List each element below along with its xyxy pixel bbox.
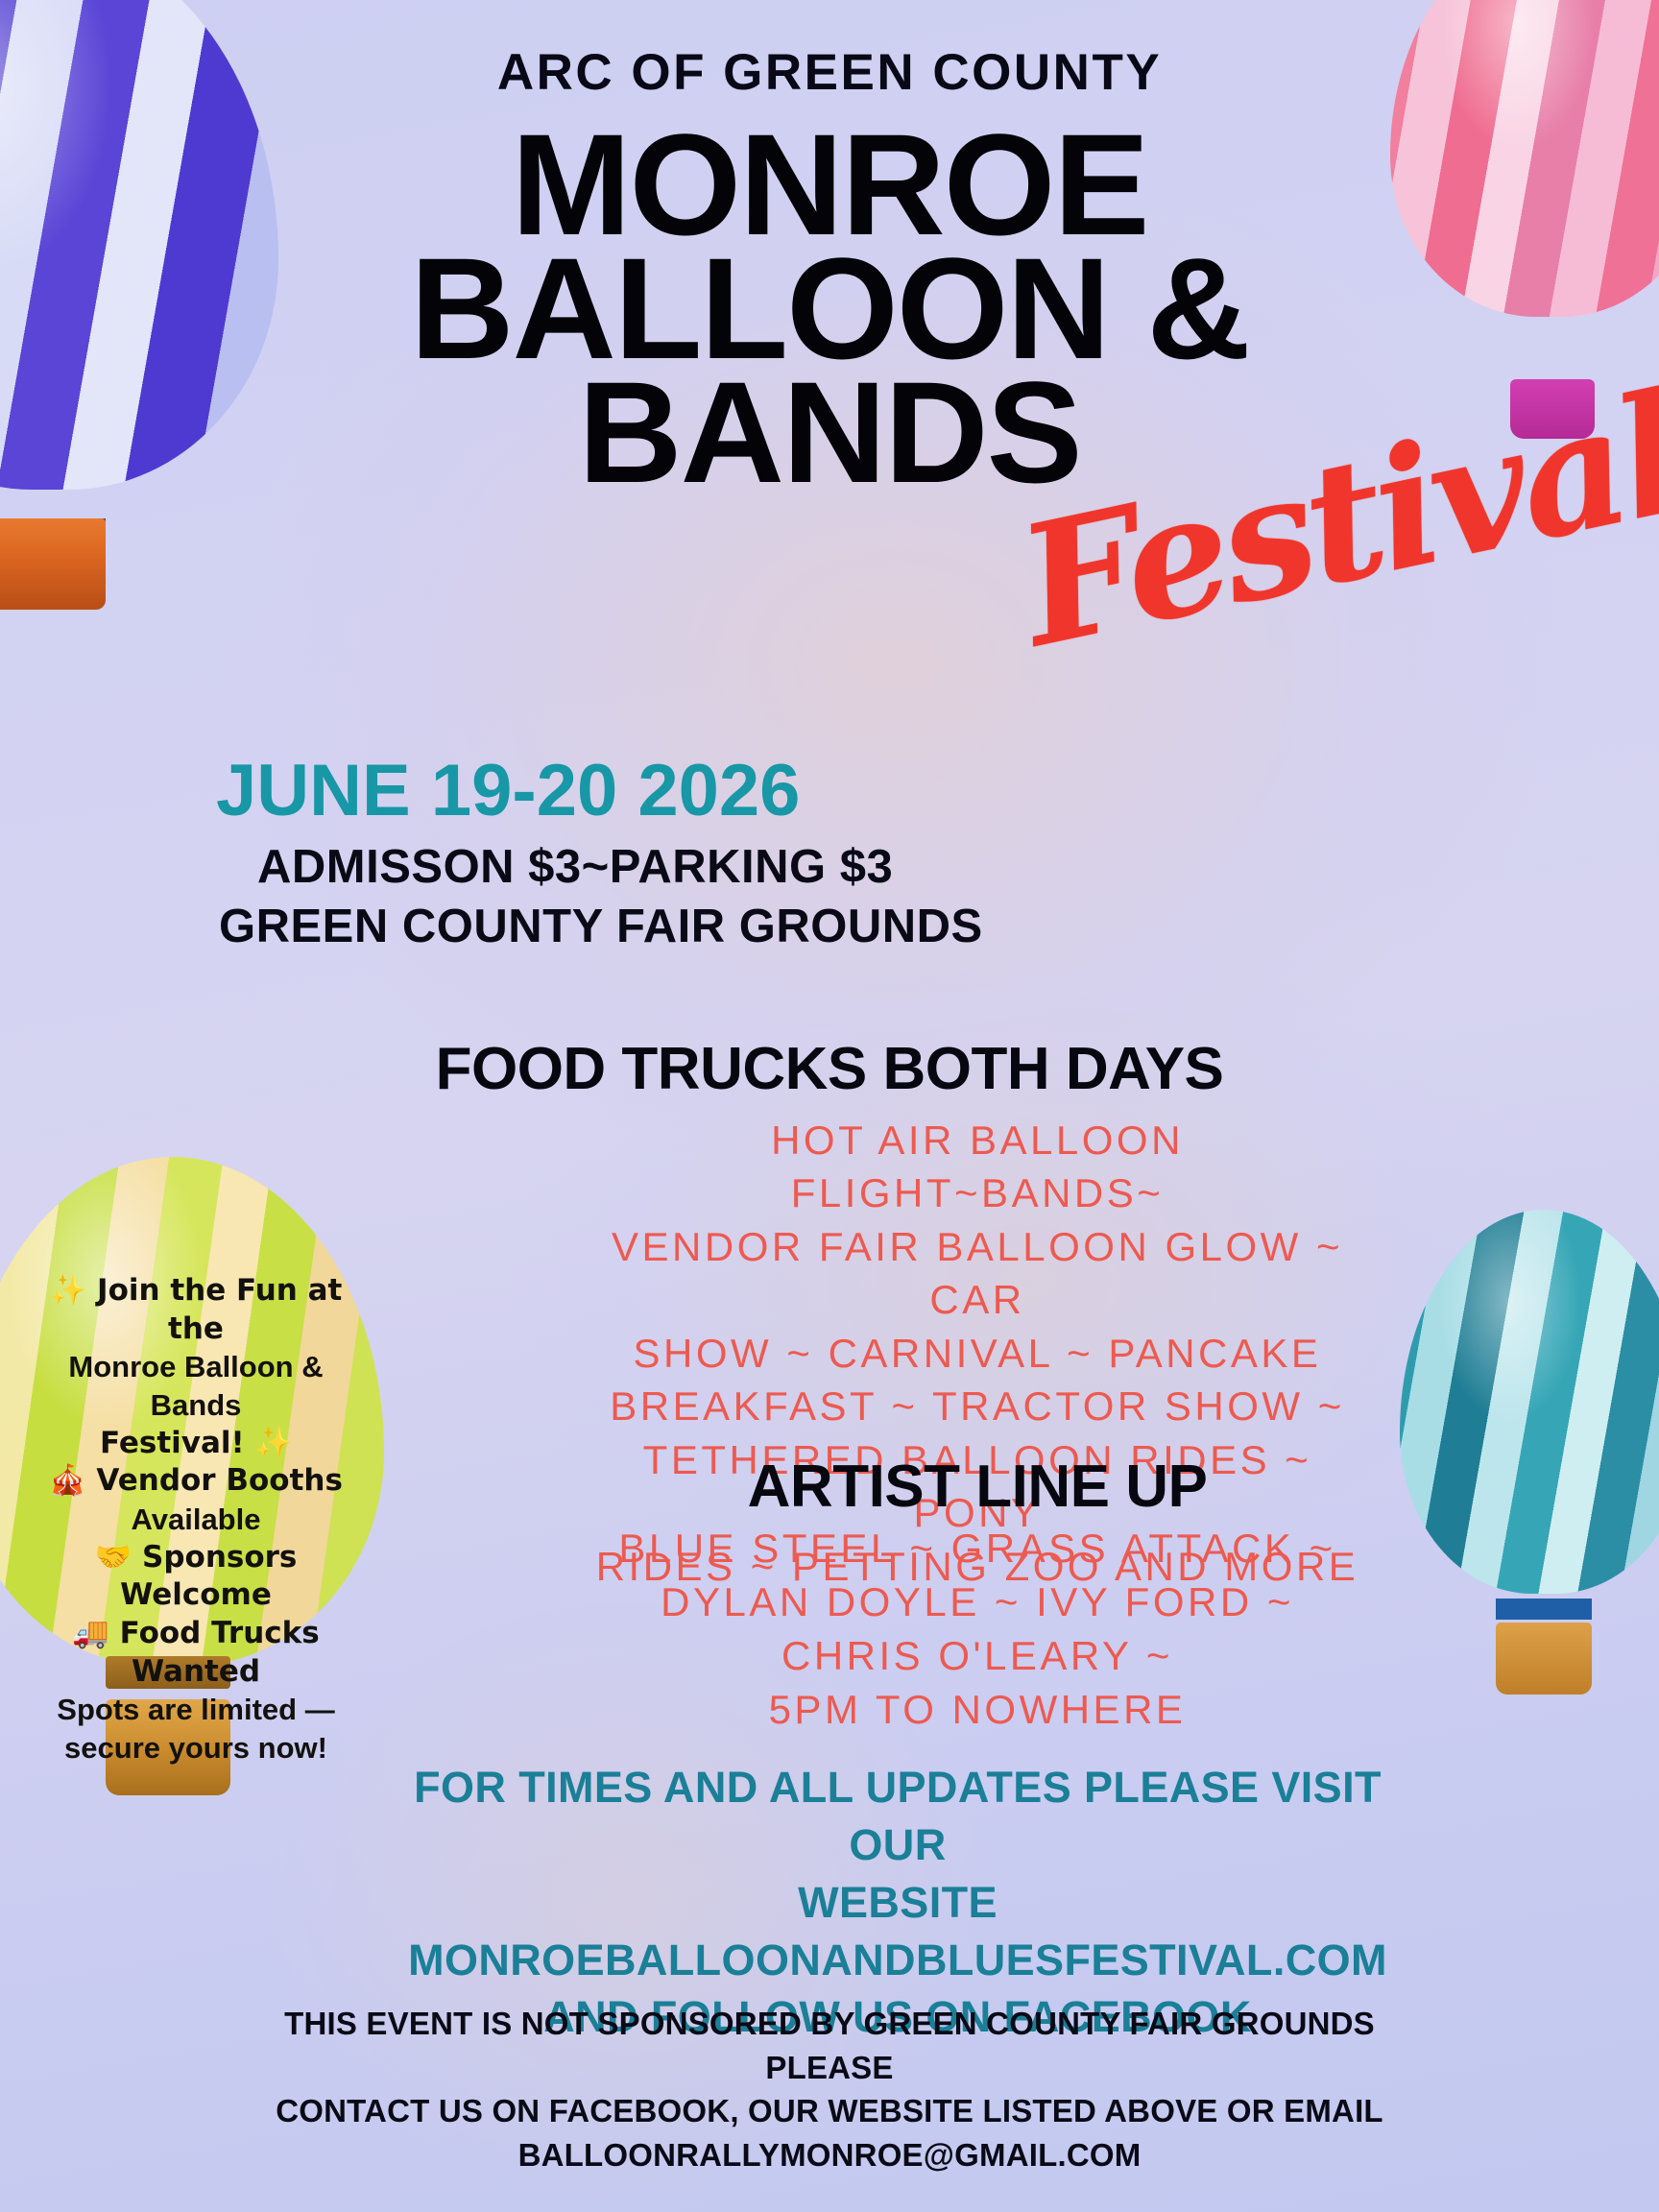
- callout-line: Available: [27, 1501, 365, 1539]
- callout-line: secure yours now!: [27, 1729, 365, 1767]
- vendor-callout-text: ✨ Join the Fun at the Monroe Balloon & B…: [27, 1272, 365, 1767]
- artist-lineup-heading: ARTIST LINE UP: [584, 1453, 1371, 1521]
- website-line: FOR TIMES AND ALL UPDATES PLEASE VISIT O…: [403, 1759, 1392, 1874]
- artist-line: DYLAN DOYLE ~ IVY FORD ~: [584, 1575, 1371, 1629]
- callout-line: Festival! ✨: [27, 1425, 365, 1463]
- attractions-line: VENDOR FAIR BALLOON GLOW ~ CAR: [584, 1220, 1371, 1327]
- event-date: JUNE 19-20 2026: [216, 749, 800, 832]
- attractions-line: BREAKFAST ~ TRACTOR SHOW ~: [584, 1380, 1371, 1432]
- callout-line: Spots are limited —: [27, 1691, 365, 1729]
- disclaimer-line: CONTACT US ON FACEBOOK, OUR WEBSITE LIST…: [263, 2089, 1396, 2133]
- attractions-line: SHOW ~ CARNIVAL ~ PANCAKE: [584, 1327, 1371, 1380]
- contact-email[interactable]: BALLOONRALLYMONROE@GMAIL.COM: [263, 2133, 1396, 2177]
- organization-title: ARC OF GREEN COUNTY: [0, 43, 1659, 102]
- disclaimer-line: THIS EVENT IS NOT SPONSORED BY GREEN COU…: [263, 2002, 1396, 2089]
- attractions-line: HOT AIR BALLOON FLIGHT~BANDS~: [584, 1114, 1371, 1220]
- callout-line: Monroe Balloon & Bands: [27, 1348, 365, 1424]
- artist-line: BLUE STEEL ~ GRASS ATTACK ~: [584, 1522, 1371, 1575]
- callout-line: ✨ Join the Fun at the: [27, 1272, 365, 1348]
- admission-price: ADMISSON $3~PARKING $3: [257, 840, 893, 894]
- festival-poster: ARC OF GREEN COUNTY MONROE BALLOON & BAN…: [0, 0, 1659, 2212]
- callout-line: 🎪 Vendor Booths: [27, 1462, 365, 1501]
- website-line: WEBSITE: [403, 1874, 1392, 1932]
- event-venue: GREEN COUNTY FAIR GROUNDS: [219, 900, 983, 953]
- callout-line: 🚚 Food Trucks Wanted: [27, 1615, 365, 1691]
- food-trucks-heading: FOOD TRUCKS BOTH DAYS: [0, 1035, 1659, 1103]
- disclaimer-block: THIS EVENT IS NOT SPONSORED BY GREEN COU…: [263, 2002, 1396, 2176]
- artist-line: 5PM TO NOWHERE: [584, 1683, 1371, 1737]
- callout-line: 🤝 Sponsors Welcome: [27, 1539, 365, 1615]
- artist-lineup-list: BLUE STEEL ~ GRASS ATTACK ~ DYLAN DOYLE …: [584, 1522, 1371, 1736]
- website-url[interactable]: MONROEBALLOONANDBLUESFESTIVAL.COM: [403, 1932, 1392, 1989]
- artist-line: CHRIS O'LEARY ~: [584, 1629, 1371, 1683]
